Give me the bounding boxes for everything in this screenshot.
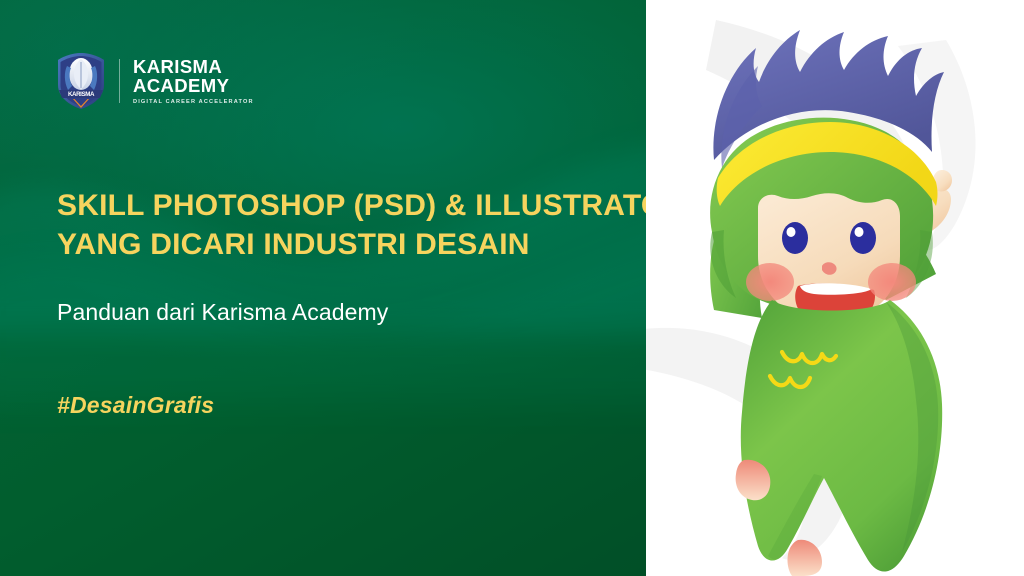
logo-brand-line1: KARISMA bbox=[133, 57, 254, 76]
mascot-illustration bbox=[646, 0, 1024, 576]
left-green-panel: KARISMA KARISMA ACADEMY DIGITAL CAREER A… bbox=[0, 0, 646, 576]
mascot-left-eye bbox=[782, 222, 808, 254]
subtitle: Panduan dari Karisma Academy bbox=[57, 298, 637, 328]
logo-brand-line2: ACADEMY bbox=[133, 76, 254, 95]
right-white-panel bbox=[646, 0, 1024, 576]
slide-text-content: SKILL PHOTOSHOP (PSD) & ILLUSTRATOR YANG… bbox=[57, 186, 637, 419]
mascot-right-foot bbox=[788, 540, 823, 576]
slide-canvas: KARISMA KARISMA ACADEMY DIGITAL CAREER A… bbox=[0, 0, 1024, 576]
mascot-right-blush bbox=[868, 263, 916, 301]
svg-text:KARISMA: KARISMA bbox=[68, 91, 95, 98]
headline: SKILL PHOTOSHOP (PSD) & ILLUSTRATOR YANG… bbox=[57, 186, 637, 264]
logo-divider bbox=[119, 59, 120, 103]
mascot-right-eye bbox=[850, 222, 876, 254]
logo-wordmark: KARISMA ACADEMY DIGITAL CAREER ACCELERAT… bbox=[133, 57, 254, 105]
logo-tagline: DIGITAL CAREER ACCELERATOR bbox=[133, 99, 254, 105]
mascot-left-blush bbox=[746, 263, 794, 301]
brand-logo[interactable]: KARISMA KARISMA ACADEMY DIGITAL CAREER A… bbox=[55, 52, 254, 110]
hashtag: #DesainGrafis bbox=[57, 392, 637, 419]
headline-line-2: YANG DICARI INDUSTRI DESAIN bbox=[57, 225, 637, 264]
karisma-shield-emblem-icon: KARISMA bbox=[55, 52, 107, 110]
headline-line-1: SKILL PHOTOSHOP (PSD) & ILLUSTRATOR bbox=[57, 186, 637, 225]
